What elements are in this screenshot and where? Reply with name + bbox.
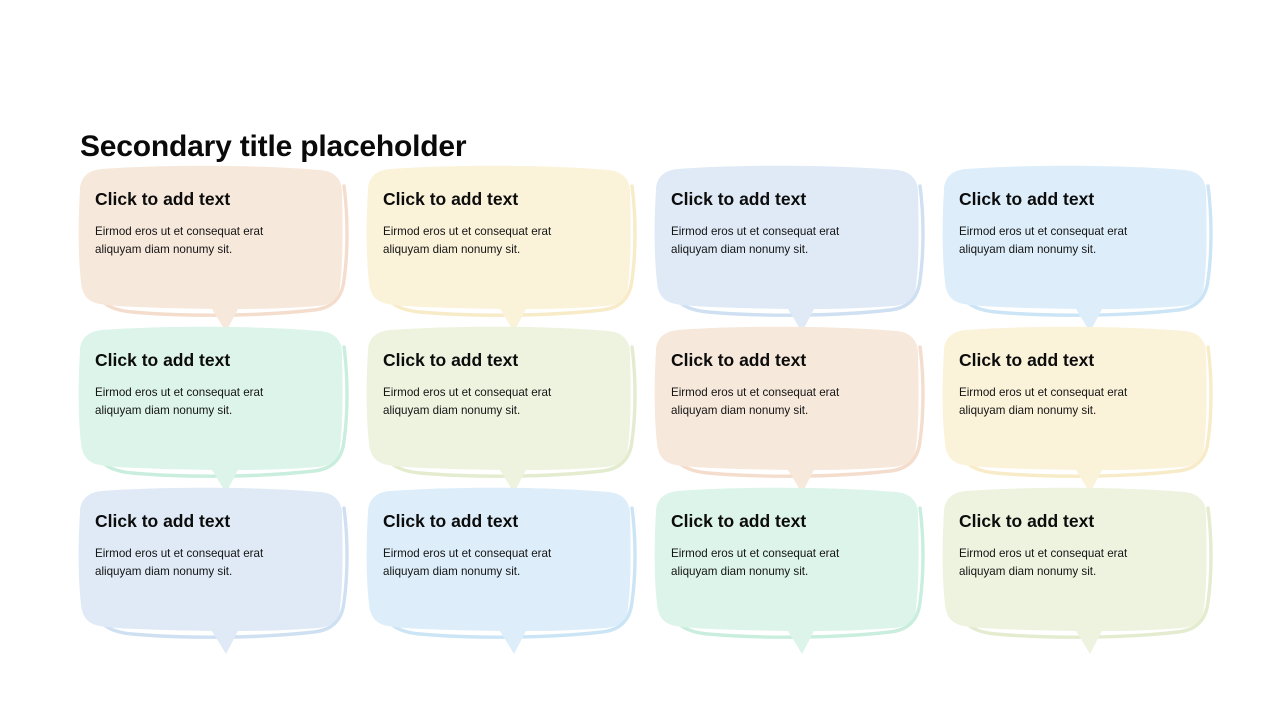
speech-bubble-content: Click to add text Eirmod eros ut et cons…: [80, 329, 350, 459]
bubble-row: Click to add text Eirmod eros ut et cons…: [0, 490, 1280, 651]
page-title[interactable]: Secondary title placeholder: [80, 130, 466, 164]
speech-bubble[interactable]: Click to add text Eirmod eros ut et cons…: [944, 168, 1214, 328]
speech-bubble[interactable]: Click to add text Eirmod eros ut et cons…: [368, 168, 638, 328]
bubble-heading[interactable]: Click to add text: [95, 512, 324, 531]
bubble-body-text[interactable]: Eirmod eros ut et consequat erat aliquya…: [959, 223, 1164, 259]
bubble-heading[interactable]: Click to add text: [95, 190, 324, 209]
bubble-row: Click to add text Eirmod eros ut et cons…: [0, 329, 1280, 490]
speech-bubble-grid: Click to add text Eirmod eros ut et cons…: [0, 168, 1280, 651]
bubble-heading[interactable]: Click to add text: [383, 512, 612, 531]
speech-bubble-content: Click to add text Eirmod eros ut et cons…: [368, 490, 638, 620]
speech-bubble[interactable]: Click to add text Eirmod eros ut et cons…: [80, 168, 350, 328]
speech-bubble[interactable]: Click to add text Eirmod eros ut et cons…: [80, 329, 350, 489]
bubble-body-text[interactable]: Eirmod eros ut et consequat erat aliquya…: [959, 384, 1164, 420]
bubble-body-text[interactable]: Eirmod eros ut et consequat erat aliquya…: [671, 545, 876, 581]
bubble-body-text[interactable]: Eirmod eros ut et consequat erat aliquya…: [671, 384, 876, 420]
bubble-heading[interactable]: Click to add text: [959, 190, 1188, 209]
speech-bubble[interactable]: Click to add text Eirmod eros ut et cons…: [368, 329, 638, 489]
speech-bubble-content: Click to add text Eirmod eros ut et cons…: [944, 490, 1214, 620]
bubble-body-text[interactable]: Eirmod eros ut et consequat erat aliquya…: [95, 223, 300, 259]
speech-bubble-content: Click to add text Eirmod eros ut et cons…: [80, 168, 350, 298]
bubble-heading[interactable]: Click to add text: [383, 190, 612, 209]
speech-bubble[interactable]: Click to add text Eirmod eros ut et cons…: [656, 168, 926, 328]
bubble-body-text[interactable]: Eirmod eros ut et consequat erat aliquya…: [383, 384, 588, 420]
speech-bubble[interactable]: Click to add text Eirmod eros ut et cons…: [656, 329, 926, 489]
speech-bubble-content: Click to add text Eirmod eros ut et cons…: [368, 329, 638, 459]
speech-bubble[interactable]: Click to add text Eirmod eros ut et cons…: [944, 329, 1214, 489]
bubble-body-text[interactable]: Eirmod eros ut et consequat erat aliquya…: [95, 384, 300, 420]
speech-bubble[interactable]: Click to add text Eirmod eros ut et cons…: [656, 490, 926, 650]
speech-bubble-content: Click to add text Eirmod eros ut et cons…: [656, 329, 926, 459]
bubble-heading[interactable]: Click to add text: [383, 351, 612, 370]
speech-bubble-content: Click to add text Eirmod eros ut et cons…: [944, 329, 1214, 459]
bubble-body-text[interactable]: Eirmod eros ut et consequat erat aliquya…: [959, 545, 1164, 581]
bubble-heading[interactable]: Click to add text: [959, 351, 1188, 370]
speech-bubble-content: Click to add text Eirmod eros ut et cons…: [944, 168, 1214, 298]
bubble-row: Click to add text Eirmod eros ut et cons…: [0, 168, 1280, 329]
bubble-body-text[interactable]: Eirmod eros ut et consequat erat aliquya…: [671, 223, 876, 259]
bubble-body-text[interactable]: Eirmod eros ut et consequat erat aliquya…: [383, 545, 588, 581]
bubble-body-text[interactable]: Eirmod eros ut et consequat erat aliquya…: [383, 223, 588, 259]
bubble-heading[interactable]: Click to add text: [95, 351, 324, 370]
bubble-heading[interactable]: Click to add text: [671, 512, 900, 531]
speech-bubble-content: Click to add text Eirmod eros ut et cons…: [656, 490, 926, 620]
bubble-heading[interactable]: Click to add text: [959, 512, 1188, 531]
speech-bubble-content: Click to add text Eirmod eros ut et cons…: [368, 168, 638, 298]
slide-canvas: Secondary title placeholder Click to add…: [0, 0, 1280, 720]
speech-bubble[interactable]: Click to add text Eirmod eros ut et cons…: [368, 490, 638, 650]
speech-bubble[interactable]: Click to add text Eirmod eros ut et cons…: [80, 490, 350, 650]
bubble-heading[interactable]: Click to add text: [671, 351, 900, 370]
speech-bubble-content: Click to add text Eirmod eros ut et cons…: [80, 490, 350, 620]
speech-bubble-content: Click to add text Eirmod eros ut et cons…: [656, 168, 926, 298]
bubble-body-text[interactable]: Eirmod eros ut et consequat erat aliquya…: [95, 545, 300, 581]
bubble-heading[interactable]: Click to add text: [671, 190, 900, 209]
speech-bubble[interactable]: Click to add text Eirmod eros ut et cons…: [944, 490, 1214, 650]
